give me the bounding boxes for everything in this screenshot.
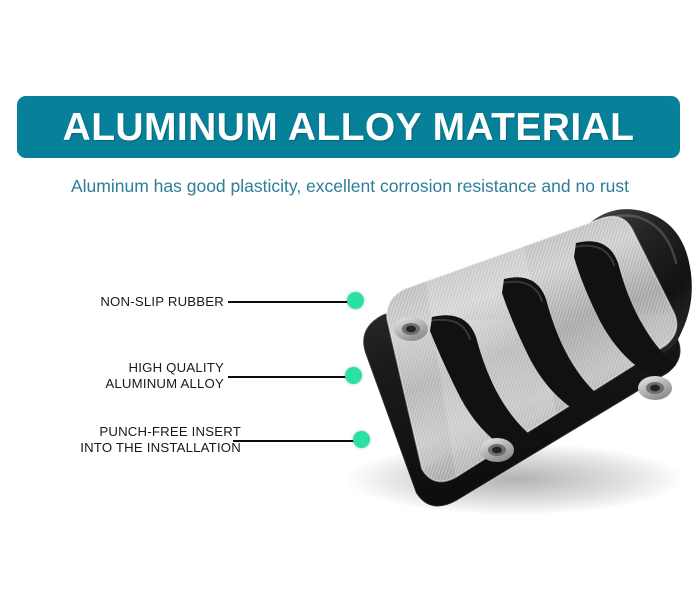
leader-line-1 xyxy=(228,301,356,303)
callout-2-line1: HIGH QUALITY xyxy=(129,360,224,375)
callout-label-high-quality-aluminum-alloy: HIGH QUALITY ALUMINUM ALLOY xyxy=(105,360,224,391)
hex-screw-top-left xyxy=(394,317,428,341)
hex-screw-bottom-center xyxy=(480,438,514,462)
product-image xyxy=(270,205,700,525)
page-title: ALUMINUM ALLOY MATERIAL xyxy=(63,108,635,147)
leader-line-2 xyxy=(228,376,354,378)
pedal-cover-illustration xyxy=(270,205,700,525)
hex-screw-right xyxy=(638,376,672,400)
callout-3-line2: INTO THE INSTALLATION xyxy=(80,440,241,456)
infographic-page: ALUMINUM ALLOY MATERIAL Aluminum has goo… xyxy=(0,0,700,600)
title-banner: ALUMINUM ALLOY MATERIAL xyxy=(17,96,680,158)
hotspot-marker-non-slip-rubber[interactable] xyxy=(347,292,364,309)
callout-label-non-slip-rubber: NON-SLIP RUBBER xyxy=(100,294,224,310)
callout-3-line1: PUNCH-FREE INSERT xyxy=(99,424,241,439)
callout-label-punch-free-insert: PUNCH-FREE INSERT INTO THE INSTALLATION xyxy=(80,424,241,455)
subtitle-text: Aluminum has good plasticity, excellent … xyxy=(0,176,700,197)
callout-2-line2: ALUMINUM ALLOY xyxy=(105,376,224,392)
leader-line-3 xyxy=(233,440,362,442)
hotspot-marker-punch-free-insert[interactable] xyxy=(353,431,370,448)
hotspot-marker-high-quality-aluminum-alloy[interactable] xyxy=(345,367,362,384)
callout-1-line1: NON-SLIP RUBBER xyxy=(100,294,224,309)
